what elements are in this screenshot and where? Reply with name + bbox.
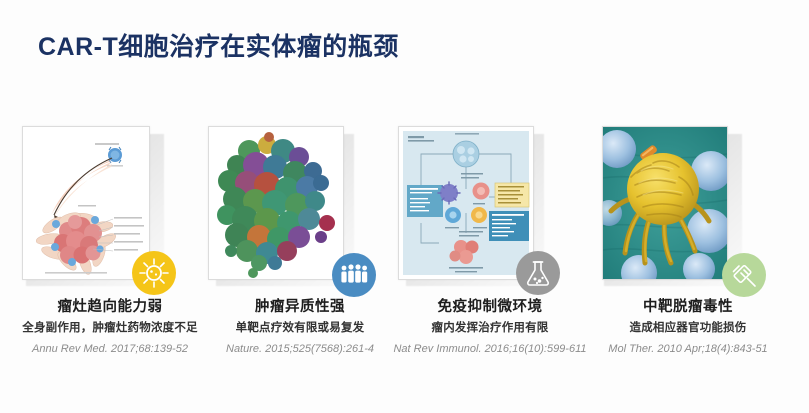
image-card-wrap	[200, 122, 400, 287]
caption-heading: 瘤灶趋向能力弱	[10, 297, 210, 317]
flask-icon-glyph	[523, 258, 553, 288]
figure-trafficking[interactable]	[22, 126, 150, 280]
tumor-trafficking-illustration	[23, 127, 149, 279]
heterogeneous-tumor-illustration	[209, 127, 343, 279]
panel-microenvironment[interactable]: 免疫抑制微环境 瘤内发挥治疗作用有限 Nat Rev Immunol. 2016…	[390, 122, 590, 407]
immunosuppressive-pathway-diagram	[399, 127, 533, 279]
caption-heading: 肿瘤异质性强	[200, 297, 400, 317]
figure-microenvironment[interactable]	[398, 126, 534, 280]
caption-subtitle: 单靶点疗效有限或易复发	[200, 319, 400, 338]
slide-canvas: CAR-T细胞治疗在实体瘤的瓶颈	[0, 0, 809, 413]
caption-heading: 中靶脱瘤毒性	[588, 297, 788, 317]
caption-heterogeneity: 肿瘤异质性强 单靶点疗效有限或易复发 Nature. 2015;525(7568…	[200, 297, 400, 357]
panel-trafficking[interactable]: 瘤灶趋向能力弱 全身副作用，肿瘤灶药物浓度不足 Annu Rev Med. 20…	[10, 122, 210, 407]
figure-ontarget-offtumor[interactable]	[602, 126, 728, 280]
caption-heading: 免疫抑制微环境	[390, 297, 590, 317]
caption-trafficking: 瘤灶趋向能力弱 全身副作用，肿瘤灶药物浓度不足 Annu Rev Med. 20…	[10, 297, 210, 357]
image-card-wrap	[390, 122, 590, 287]
caption-reference: Nature. 2015;525(7568):261-4	[200, 341, 400, 357]
sun-icon	[132, 251, 176, 295]
image-card-wrap	[10, 122, 210, 287]
sem-tumor-cell-micrograph	[603, 127, 727, 279]
caption-ontarget-offtumor: 中靶脱瘤毒性 造成相应器官功能损伤 Mol Ther. 2010 Apr;18(…	[588, 297, 788, 357]
page-title: CAR-T细胞治疗在实体瘤的瓶颈	[38, 27, 399, 63]
people-group-icon-glyph	[339, 260, 369, 290]
caption-subtitle: 全身副作用，肿瘤灶药物浓度不足	[10, 319, 210, 338]
figure-heterogeneity[interactable]	[208, 126, 344, 280]
people-group-icon	[332, 253, 376, 297]
sun-icon-glyph	[137, 256, 171, 290]
caption-reference: Annu Rev Med. 2017;68:139-52	[10, 341, 210, 357]
caption-microenvironment: 免疫抑制微环境 瘤内发挥治疗作用有限 Nat Rev Immunol. 2016…	[390, 297, 590, 357]
panel-row: 瘤灶趋向能力弱 全身副作用，肿瘤灶药物浓度不足 Annu Rev Med. 20…	[0, 122, 809, 407]
panel-heterogeneity[interactable]: 肿瘤异质性强 单靶点疗效有限或易复发 Nature. 2015;525(7568…	[200, 122, 400, 407]
panel-ontarget-offtumor[interactable]: 中靶脱瘤毒性 造成相应器官功能损伤 Mol Ther. 2010 Apr;18(…	[588, 122, 788, 407]
caption-subtitle: 瘤内发挥治疗作用有限	[390, 319, 590, 338]
image-card-wrap	[588, 122, 788, 287]
syringe-icon-glyph	[729, 260, 759, 290]
flask-icon	[516, 251, 560, 295]
caption-reference: Nat Rev Immunol. 2016;16(10):599-611	[390, 341, 590, 357]
caption-reference: Mol Ther. 2010 Apr;18(4):843-51	[588, 341, 788, 357]
caption-subtitle: 造成相应器官功能损伤	[588, 319, 788, 338]
syringe-icon	[722, 253, 766, 297]
